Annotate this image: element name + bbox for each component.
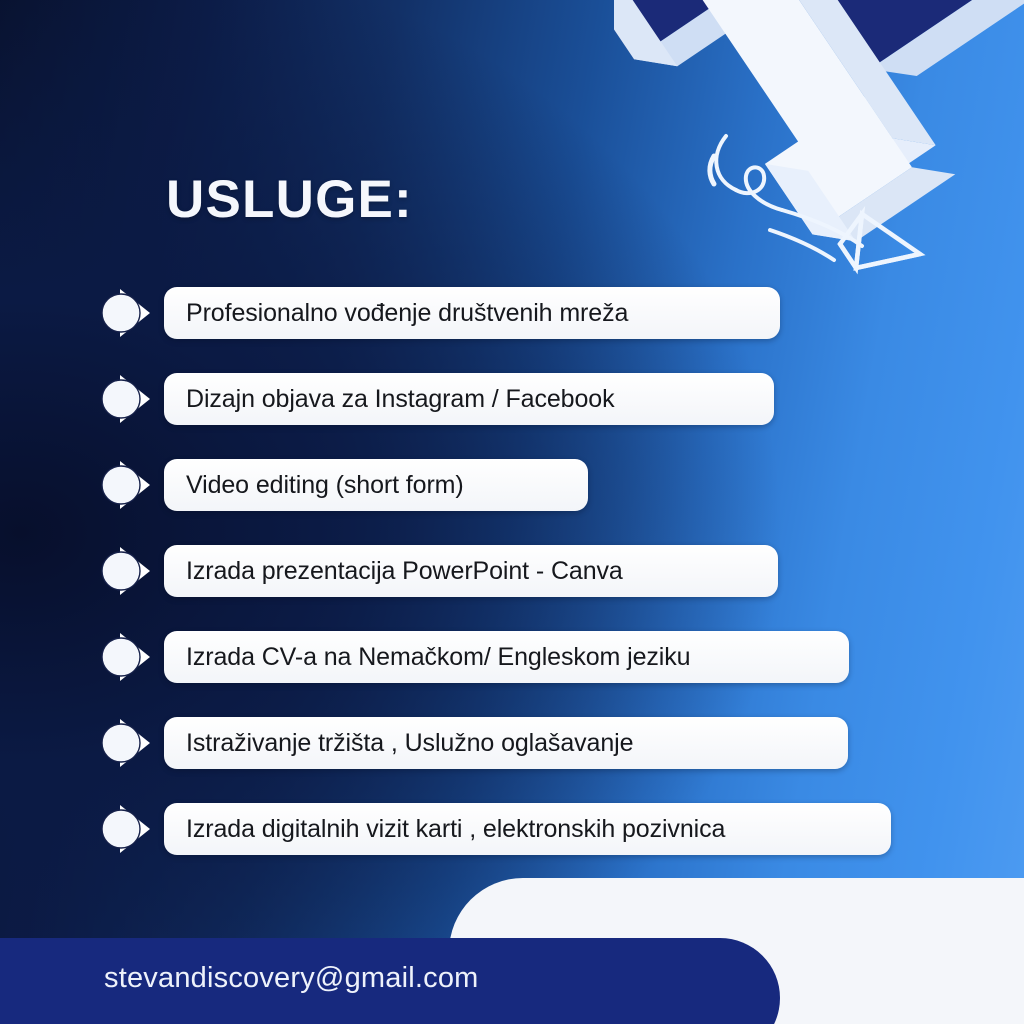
circle-arrow-icon xyxy=(100,287,152,339)
service-label: Video editing (short form) xyxy=(186,471,464,500)
services-list: Profesionalno vođenje društvenih mreža D… xyxy=(0,287,1024,889)
list-item[interactable]: Dizajn objava za Instagram / Facebook xyxy=(0,373,1024,459)
service-label: Izrada digitalnih vizit karti , elektron… xyxy=(186,815,725,844)
service-pill[interactable]: Izrada prezentacija PowerPoint - Canva xyxy=(164,545,778,597)
circle-arrow-icon xyxy=(100,631,152,683)
service-pill[interactable]: Profesionalno vođenje društvenih mreža xyxy=(164,287,780,339)
contact-email[interactable]: stevandiscovery@gmail.com xyxy=(104,962,479,995)
service-label: Izrada prezentacija PowerPoint - Canva xyxy=(186,557,623,586)
list-item[interactable]: Video editing (short form) xyxy=(0,459,1024,545)
service-pill[interactable]: Video editing (short form) xyxy=(164,459,588,511)
circle-arrow-icon xyxy=(100,373,152,425)
swirl-trail-icon xyxy=(706,118,946,293)
list-item[interactable]: Izrada digitalnih vizit karti , elektron… xyxy=(0,803,1024,889)
service-label: Izrada CV-a na Nemačkom/ Engleskom jezik… xyxy=(186,643,690,672)
service-label: Profesionalno vođenje društvenih mreža xyxy=(186,299,628,328)
circle-arrow-icon xyxy=(100,545,152,597)
circle-arrow-icon xyxy=(100,717,152,769)
poster-canvas: USLUGE: Profesionalno vođenje društvenih… xyxy=(0,0,1024,1024)
list-item[interactable]: Izrada CV-a na Nemačkom/ Engleskom jezik… xyxy=(0,631,1024,717)
list-item[interactable]: Izrada prezentacija PowerPoint - Canva xyxy=(0,545,1024,631)
circle-arrow-icon xyxy=(100,803,152,855)
service-pill[interactable]: Istraživanje tržišta , Uslužno oglašavan… xyxy=(164,717,848,769)
isometric-blocks-graphic xyxy=(614,0,1024,280)
service-pill[interactable]: Dizajn objava za Instagram / Facebook xyxy=(164,373,774,425)
service-pill[interactable]: Izrada digitalnih vizit karti , elektron… xyxy=(164,803,891,855)
list-item[interactable]: Profesionalno vođenje društvenih mreža xyxy=(0,287,1024,373)
list-item[interactable]: Istraživanje tržišta , Uslužno oglašavan… xyxy=(0,717,1024,803)
paper-plane-icon xyxy=(840,214,920,268)
page-title: USLUGE: xyxy=(166,173,413,226)
service-label: Istraživanje tržišta , Uslužno oglašavan… xyxy=(186,729,633,758)
service-label: Dizajn objava za Instagram / Facebook xyxy=(186,385,614,414)
service-pill[interactable]: Izrada CV-a na Nemačkom/ Engleskom jezik… xyxy=(164,631,849,683)
circle-arrow-icon xyxy=(100,459,152,511)
